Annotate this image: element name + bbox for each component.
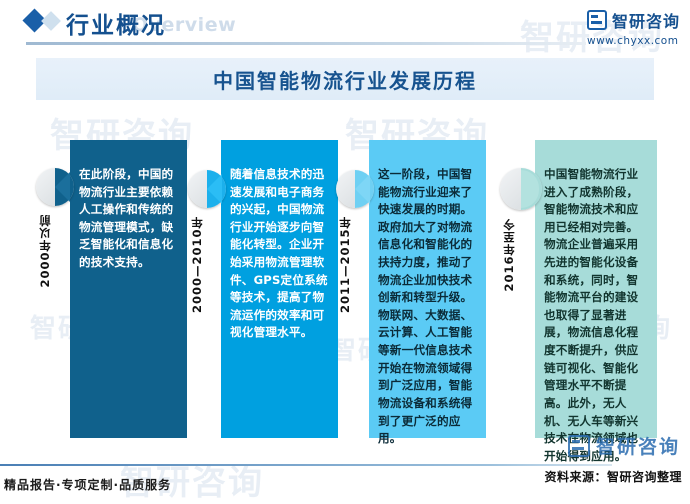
brand-logo: 智研咨询 www.chyxx.com [587,8,680,47]
footer-divider [0,464,612,466]
footer-brand-mark-icon [568,435,590,457]
stage-card-3[interactable]: 这一阶段，中国智能物流行业迎来了快速发展的时期。政府加大了对物流信息化和智能化的… [369,140,486,438]
stage-period-label-1: 2000年以前 [37,214,53,288]
footer-brand-logo: 智研咨询 [568,432,680,459]
stage-marker-icon-1 [36,168,74,206]
header-title-cn: 行业概况 [66,6,166,40]
stage-marker-icon-4 [500,168,542,210]
stage-period-label-3: 2011—2015年 [337,216,353,313]
footer-tagline: 精品报告·专项定制·品质服务 [4,476,171,493]
stage-card-text-1: 在此阶段，中国的物流行业主要依赖人工操作和传统的物流管理模式，缺乏智能化和信息化… [79,166,178,272]
brand-mark-icon [587,10,607,30]
stage-card-4[interactable]: 中国智能物流行业进入了成熟阶段，智能物流技术和应用已经相对完善。物流企业普遍采用… [535,140,657,438]
stage-card-text-2: 随着信息技术的迅速发展和电子商务的兴起，中国物流行业开始逐步向智能化转型。企业开… [230,166,329,342]
brand-name: 智研咨询 [612,8,680,32]
stage-card-text-3: 这一阶段，中国智能物流行业迎来了快速发展的时期。政府加大了对物流信息化和智能化的… [378,166,477,448]
stage-card-2[interactable]: 随着信息技术的迅速发展和电子商务的兴起，中国物流行业开始逐步向智能化转型。企业开… [221,140,338,438]
header-divider [26,42,586,45]
stage-marker-icon-3 [336,170,374,208]
chart-title-banner: 中国智能物流行业发展历程 [36,58,654,100]
stage-card-1[interactable]: 在此阶段，中国的物流行业主要依赖人工操作和传统的物流管理模式，缺乏智能化和信息化… [70,140,187,438]
footer-source: 资料来源：智研咨询整理 [544,468,682,485]
stage-card-text-4: 中国智能物流行业进入了成熟阶段，智能物流技术和应用已经相对完善。物流企业普遍采用… [544,166,648,465]
page-header: Overview 行业概况 智研咨询 www.chyxx.com [0,0,690,52]
stage-marker-icon-2 [188,170,226,208]
stage-period-label-4: 2016年至今 [501,218,517,292]
diamond-ghost-icon [41,11,61,31]
stage-period-label-2: 2000—2010年 [189,216,205,313]
brand-url: www.chyxx.com [587,35,680,47]
page-title: 中国智能物流行业发展历程 [213,65,477,94]
footer-brand-name: 智研咨询 [596,432,680,459]
